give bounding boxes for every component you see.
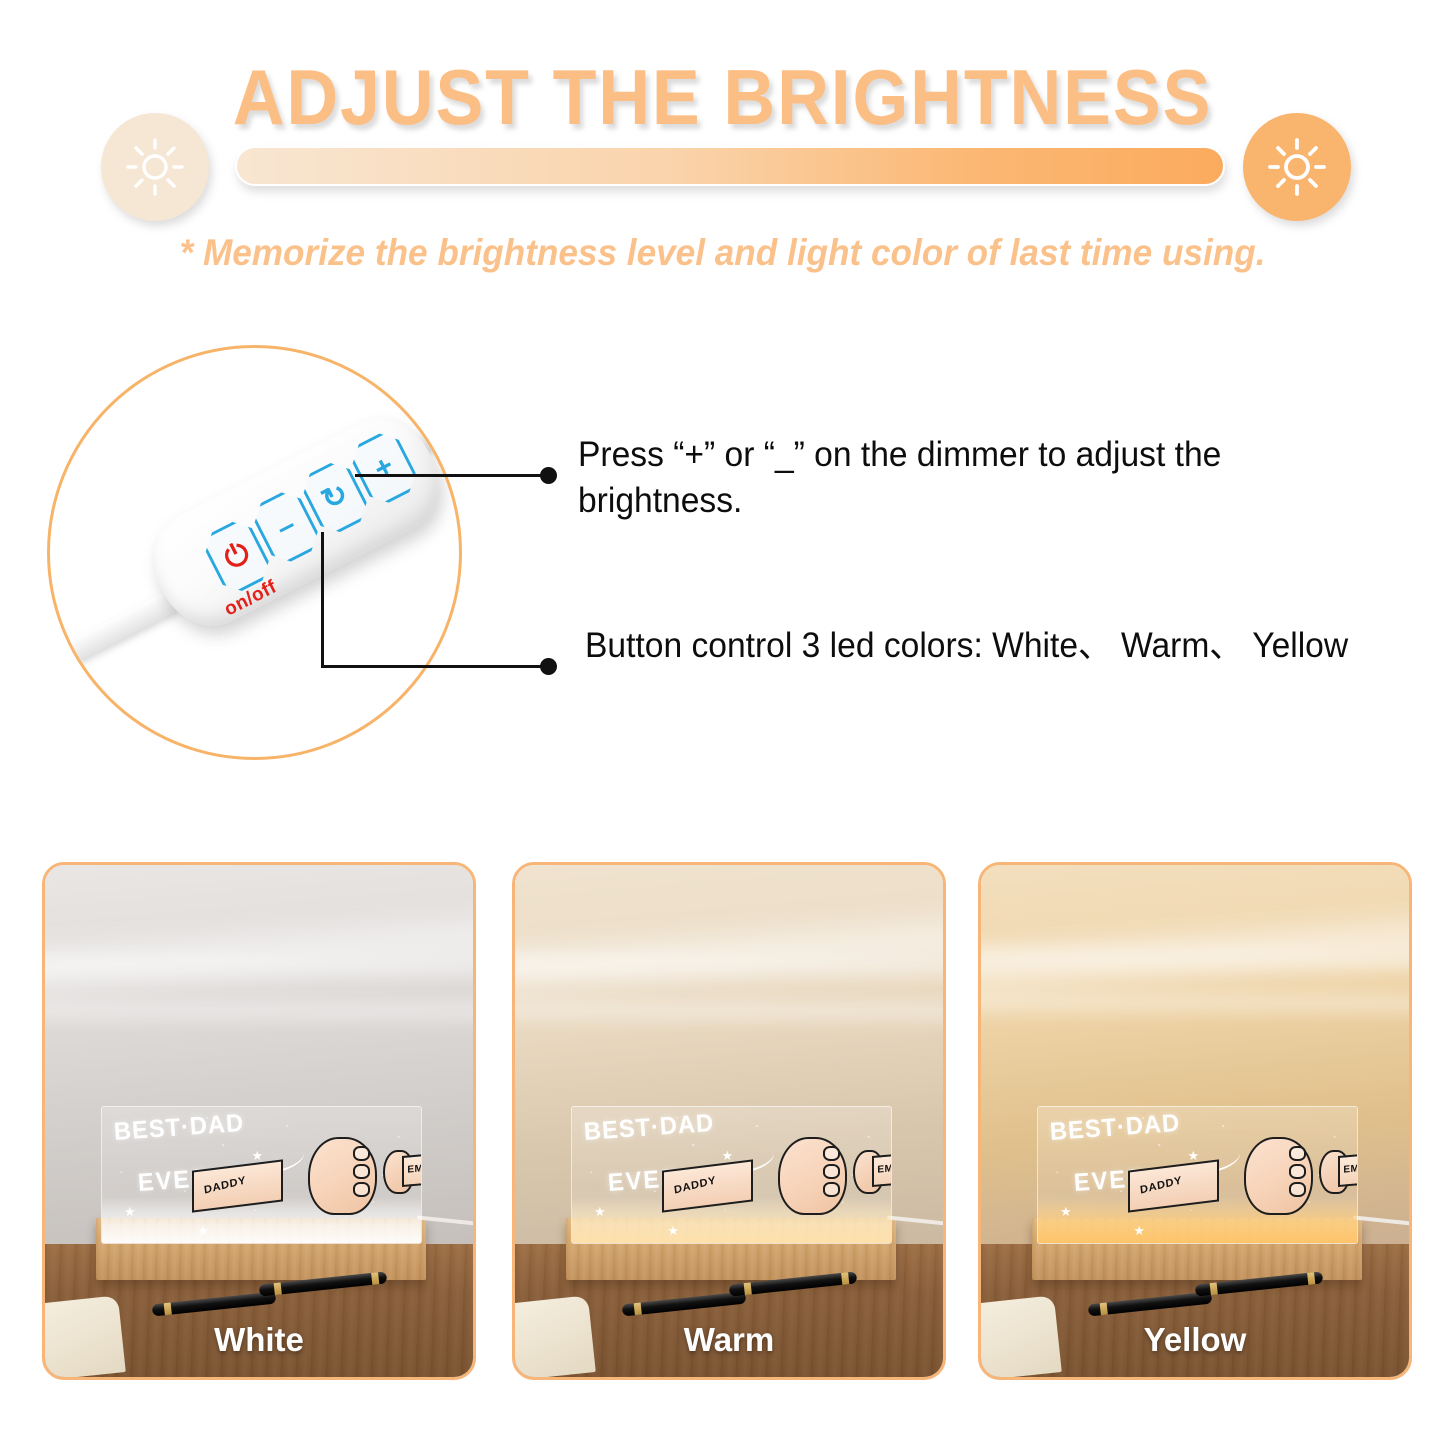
kid-sleeve-2: EMMA: [1338, 1152, 1358, 1187]
name-left-1: DADDY: [674, 1175, 717, 1197]
dad-fist-2: [1244, 1137, 1313, 1215]
dimmer-diagram-section: ⏻ – ↻ + on/off Press “+” or “_” on the d…: [0, 300, 1445, 830]
fist-bump-illustration-0: DADDY EMMA: [261, 1131, 417, 1226]
plus-icon: +: [370, 451, 399, 486]
dimmer-closeup-circle: ⏻ – ↻ + on/off: [47, 345, 462, 760]
kid-sleeve-0: EMMA: [402, 1152, 422, 1187]
dad-fist-1: [778, 1137, 847, 1215]
name-right-1: EMMA: [877, 1162, 891, 1176]
callout-line-lower-vertical: [321, 532, 324, 668]
dad-sleeve-2: DADDY: [1128, 1160, 1219, 1213]
name-left-2: DADDY: [1140, 1175, 1183, 1197]
panel-yellow[interactable]: BEST·DAD EVER ★ ★ ★ ★ DADDY EMMA: [978, 862, 1412, 1380]
dad-fist-0: [308, 1137, 377, 1215]
header-section: ADJUST THE BRIGHTNESS: [0, 0, 1445, 300]
brightness-slider[interactable]: [235, 146, 1225, 186]
callout-dot-upper: [540, 467, 557, 484]
sun-low-icon: [101, 113, 209, 221]
acrylic-plaque-0: BEST·DAD EVER ★ ★ ★ ★ DADDY EMMA: [101, 1106, 422, 1244]
dad-sleeve-1: DADDY: [662, 1160, 753, 1213]
name-right-2: EMMA: [1343, 1162, 1357, 1176]
power-icon: ⏻: [220, 538, 255, 576]
brightness-callout-text: Press “+” or “_” on the dimmer to adjust…: [578, 432, 1356, 524]
led-color-callout-text: Button control 3 led colors: White、 Warm…: [585, 623, 1358, 669]
acrylic-plaque-2: BEST·DAD EVER ★ ★ ★ ★ DADDY EMMA: [1037, 1106, 1358, 1244]
panel-warm[interactable]: BEST·DAD EVER ★ ★ ★ ★ DADDY EMMA: [512, 862, 946, 1380]
name-left-0: DADDY: [204, 1175, 247, 1197]
panel-caption-warm: Warm: [515, 1321, 943, 1359]
callout-line-upper: [355, 474, 548, 477]
name-right-0: EMMA: [407, 1162, 421, 1176]
sun-high-icon: [1243, 113, 1351, 221]
panel-caption-yellow: Yellow: [981, 1321, 1409, 1359]
dimmer-device: ⏻ – ↻ + on/off: [136, 401, 457, 642]
minus-icon: –: [272, 510, 300, 544]
color-mode-gallery: BEST·DAD EVER ★ ★ ★ ★ DADDY EMMA: [0, 862, 1445, 1382]
panel-white[interactable]: BEST·DAD EVER ★ ★ ★ ★ DADDY EMMA: [42, 862, 476, 1380]
callout-line-lower-horizontal: [321, 665, 548, 668]
panel-caption-white: White: [45, 1321, 473, 1359]
kid-sleeve-1: EMMA: [872, 1152, 892, 1187]
cable-left: [57, 588, 183, 667]
color-cycle-icon: ↻: [317, 478, 353, 516]
dad-sleeve-0: DADDY: [192, 1160, 283, 1213]
memory-note: * Memorize the brightness level and ligh…: [36, 232, 1409, 274]
page-title: ADJUST THE BRIGHTNESS: [58, 52, 1387, 143]
callout-dot-lower: [540, 658, 557, 675]
fist-bump-illustration-2: DADDY EMMA: [1197, 1131, 1353, 1226]
acrylic-plaque-1: BEST·DAD EVER ★ ★ ★ ★ DADDY EMMA: [571, 1106, 892, 1244]
fist-bump-illustration-1: DADDY EMMA: [731, 1131, 887, 1226]
